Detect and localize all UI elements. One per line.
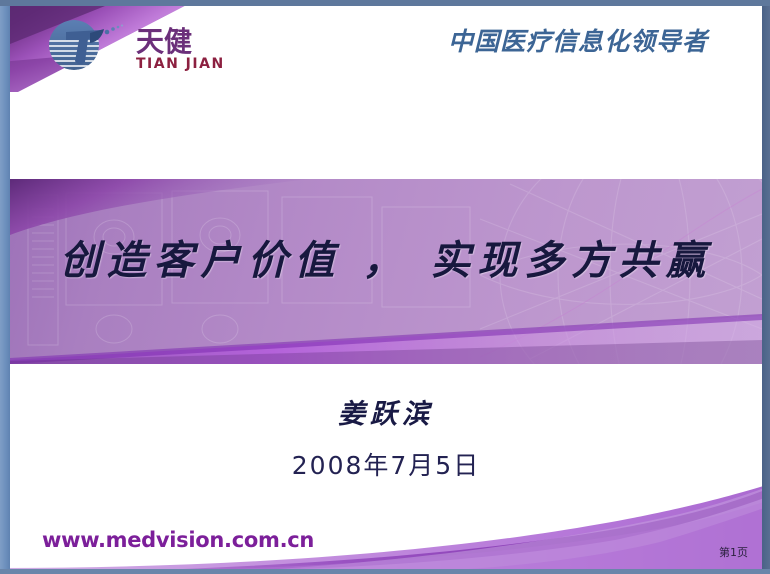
- presenter-name: 姜跃滨: [10, 392, 762, 431]
- presentation-date: 2008年7月5日: [10, 446, 762, 482]
- logo-latin-name: TIAN JIAN: [136, 56, 225, 72]
- frame-border-bottom: [0, 569, 770, 574]
- header-slogan: 中国医疗信息化领导者: [448, 22, 748, 58]
- frame-border-right: [762, 0, 770, 574]
- presentation-slide: 天健 TIAN JIAN 中国医疗信息化领导者: [0, 0, 770, 574]
- page-number: 第1页: [719, 544, 748, 560]
- frame-border-left: [0, 0, 10, 574]
- logo-cn-name: 天健: [136, 25, 192, 58]
- tianjian-logo: 天健 TIAN JIAN: [44, 18, 254, 74]
- frame-border-top: [0, 0, 770, 6]
- band-bottom-wedge: [10, 314, 762, 364]
- website-url[interactable]: www.medvision.com.cn: [42, 528, 314, 552]
- slide-title: 创造客户价值 ， 实现多方共赢: [10, 228, 762, 286]
